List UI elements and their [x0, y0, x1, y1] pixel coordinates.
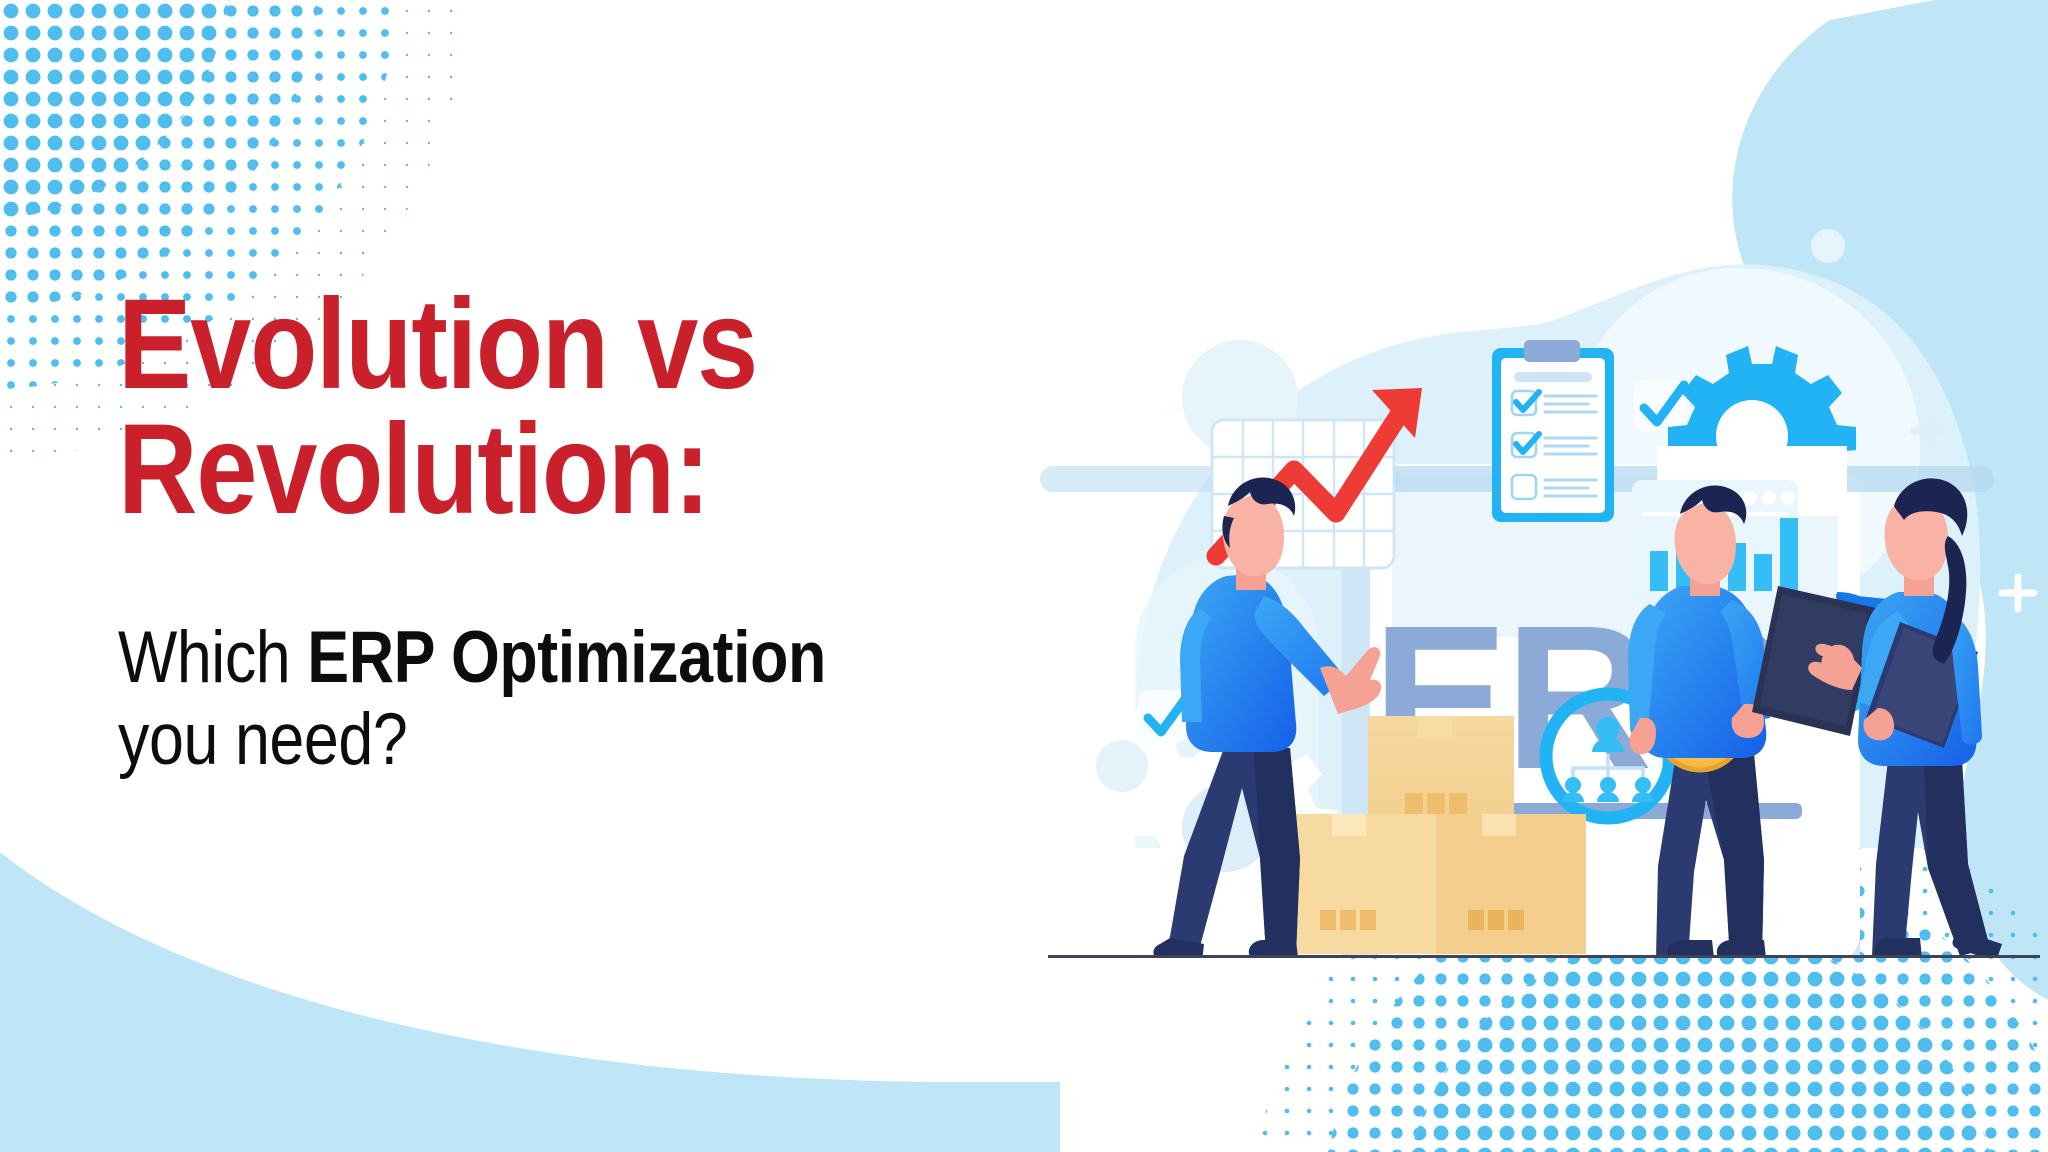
erp-illustration-svg: ERP — [1040, 148, 2048, 958]
page-subtitle: Which ERP Optimization you need? — [118, 617, 944, 781]
subtitle-line-1: Which ERP Optimization — [118, 617, 944, 699]
subtitle-line-2: you need? — [118, 699, 944, 781]
headline-line-1: Evolution vs — [118, 282, 944, 407]
wave-bottom-left-shape — [0, 852, 1060, 1152]
clipboard-checklist-icon — [1492, 340, 1614, 522]
headline-block: Evolution vs Revolution: Which ERP Optim… — [118, 282, 1078, 780]
subtitle-plain: Which — [118, 617, 307, 698]
headline-line-2: Revolution: — [118, 407, 944, 532]
poster-canvas: Evolution vs Revolution: Which ERP Optim… — [0, 0, 2048, 1152]
erp-illustration: ERP — [1040, 148, 2048, 958]
page-title: Evolution vs Revolution: — [118, 282, 944, 533]
checkbox-check-icon — [1634, 380, 1686, 432]
subtitle-bold: ERP Optimization — [307, 617, 826, 698]
